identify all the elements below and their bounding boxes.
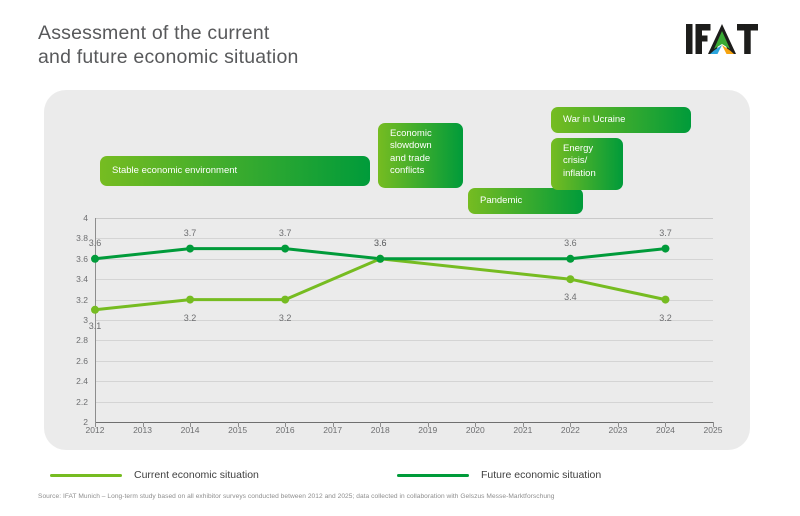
x-axis-labels: 2012201320142015201620172018201920202021…: [95, 425, 713, 439]
data-point-label: 3.2: [659, 313, 672, 323]
data-point-label: 3.2: [184, 313, 197, 323]
x-axis-tick-label: 2014: [181, 425, 200, 435]
source-note: Source: IFAT Munich – Long-term study ba…: [38, 493, 768, 500]
data-point[interactable]: [566, 255, 574, 263]
x-axis-tick-label: 2022: [561, 425, 580, 435]
x-axis-tick-label: 2017: [323, 425, 342, 435]
y-axis-tick-label: 3.8: [76, 233, 88, 243]
x-axis-tick-label: 2020: [466, 425, 485, 435]
y-axis-tick-label: 4: [83, 213, 88, 223]
data-point-label: 3.6: [374, 238, 387, 248]
x-axis-tick-label: 2019: [418, 425, 437, 435]
chart-legend: Current economic situationFuture economi…: [44, 466, 764, 484]
x-axis-tick-label: 2018: [371, 425, 390, 435]
header: Assessment of the current and future eco…: [0, 0, 800, 86]
ifat-logo: [686, 22, 758, 58]
data-point-label: 3.7: [659, 228, 672, 238]
y-axis-tick-label: 2.6: [76, 356, 88, 366]
y-axis-tick-label: 2.2: [76, 397, 88, 407]
data-point[interactable]: [281, 245, 289, 253]
x-axis-tick-label: 2024: [656, 425, 675, 435]
data-point[interactable]: [376, 255, 384, 263]
x-axis-tick-label: 2021: [513, 425, 532, 435]
ifat-logo-svg: [686, 22, 758, 58]
data-point[interactable]: [281, 296, 289, 304]
legend-swatch: [397, 474, 469, 477]
annotation-callout: Pandemic: [468, 188, 583, 214]
screenshot-root: Assessment of the current and future eco…: [0, 0, 800, 516]
x-axis-tick-label: 2023: [608, 425, 627, 435]
x-axis-line: [95, 422, 713, 423]
chart-plot-area: 3.13.23.23.63.43.23.63.73.73.63.63.7: [95, 218, 713, 422]
annotation-callout: Energy crisis/ inflation: [551, 138, 623, 190]
data-point[interactable]: [186, 245, 194, 253]
x-axis-tick-label: 2015: [228, 425, 247, 435]
y-axis-tick-label: 2.8: [76, 335, 88, 345]
y-axis-labels: 43.83.63.43.232.82.62.42.22: [55, 218, 88, 422]
annotation-callout: War in Ucraine: [551, 107, 691, 133]
x-axis-tick-label: 2013: [133, 425, 152, 435]
x-axis-tick-label: 2012: [86, 425, 105, 435]
data-point-label: 3.4: [564, 292, 577, 302]
x-axis-tick-label: 2025: [704, 425, 723, 435]
page-title: Assessment of the current and future eco…: [38, 21, 299, 69]
series-line: [95, 259, 665, 310]
annotation-callout: Economic slowdown and trade conflicts: [378, 123, 463, 188]
legend-label: Future economic situation: [481, 469, 601, 481]
data-point[interactable]: [186, 296, 194, 304]
legend-swatch: [50, 474, 122, 477]
legend-label: Current economic situation: [134, 469, 259, 481]
data-point[interactable]: [91, 306, 99, 314]
legend-item[interactable]: Future economic situation: [397, 466, 601, 484]
y-axis-tick-label: 3.2: [76, 295, 88, 305]
y-axis-tick-label: 3: [83, 315, 88, 325]
y-axis-tick-label: 3.4: [76, 274, 88, 284]
data-point[interactable]: [566, 275, 574, 283]
data-point-label: 3.6: [564, 238, 577, 248]
data-point[interactable]: [661, 296, 669, 304]
data-point[interactable]: [91, 255, 99, 263]
data-point-label: 3.1: [89, 321, 102, 331]
data-point[interactable]: [661, 245, 669, 253]
data-point-label: 3.6: [89, 238, 102, 248]
data-point-label: 3.2: [279, 313, 292, 323]
legend-item[interactable]: Current economic situation: [50, 466, 259, 484]
y-axis-tick-label: 2.4: [76, 376, 88, 386]
y-axis-tick-label: 3.6: [76, 254, 88, 264]
annotation-callout: Stable economic environment: [100, 156, 370, 186]
x-axis-tick-label: 2016: [276, 425, 295, 435]
data-point-label: 3.7: [279, 228, 292, 238]
data-point-label: 3.7: [184, 228, 197, 238]
